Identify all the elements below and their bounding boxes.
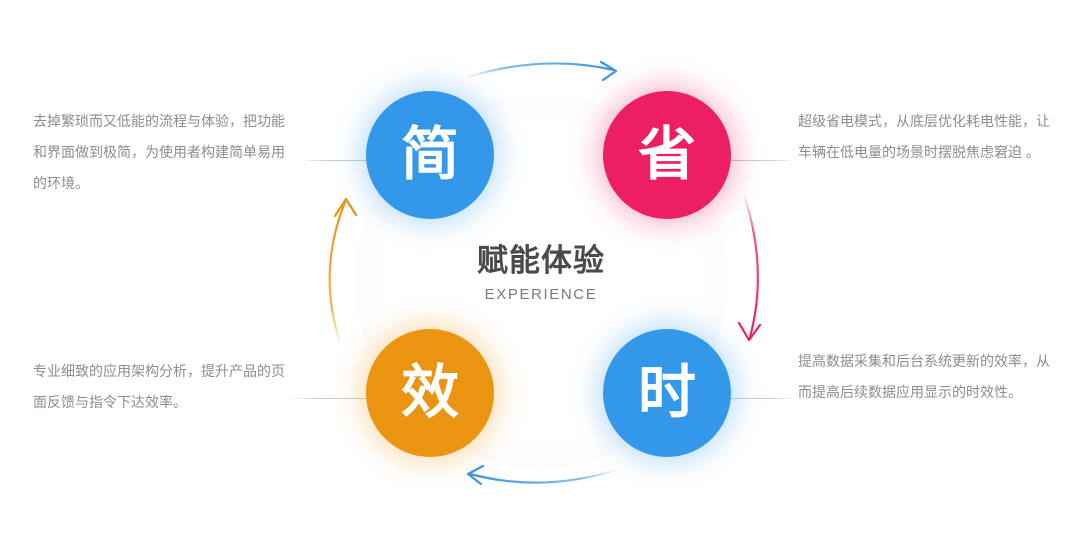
description-bottom-right: 提高数据采集和后台系统更新的效率，从而提高后续数据应用显示的时效性。 xyxy=(798,346,1056,408)
node-label-jian: 简 xyxy=(401,126,459,184)
node-circle-xiao[interactable]: 效 xyxy=(366,329,494,457)
arrow-right xyxy=(739,198,760,340)
center-title-en: EXPERIENCE xyxy=(395,286,687,303)
node-circle-sheng[interactable]: 省 xyxy=(603,91,731,219)
node-circle-shi[interactable]: 时 xyxy=(603,329,731,457)
node-circle-jian[interactable]: 简 xyxy=(366,91,494,219)
arrow-top xyxy=(468,62,616,80)
description-bottom-left: 专业细致的应用架构分析，提升产品的页面反馈与指令下达效率。 xyxy=(33,356,295,418)
node-label-xiao: 效 xyxy=(401,364,459,422)
arrow-left xyxy=(330,199,356,342)
node-label-sheng: 省 xyxy=(638,126,696,184)
node-label-shi: 时 xyxy=(638,364,696,422)
description-top-right: 超级省电模式，从底层优化耗电性能，让车辆在低电量的场景时摆脱焦虑窘迫 。 xyxy=(798,106,1056,168)
center-label-group: 赋能体验 EXPERIENCE xyxy=(395,243,687,303)
description-top-left: 去掉繁琐而又低能的流程与体验，把功能和界面做到极简，为使用者构建简单易用的环境。 xyxy=(33,106,295,199)
infographic-canvas: 简 省 效 时 赋能体验 EXPERIENCE 去掉繁琐而又低能的流程与体验，把… xyxy=(0,0,1082,548)
arrow-bottom xyxy=(468,466,616,484)
center-title-cn: 赋能体验 xyxy=(395,243,687,279)
